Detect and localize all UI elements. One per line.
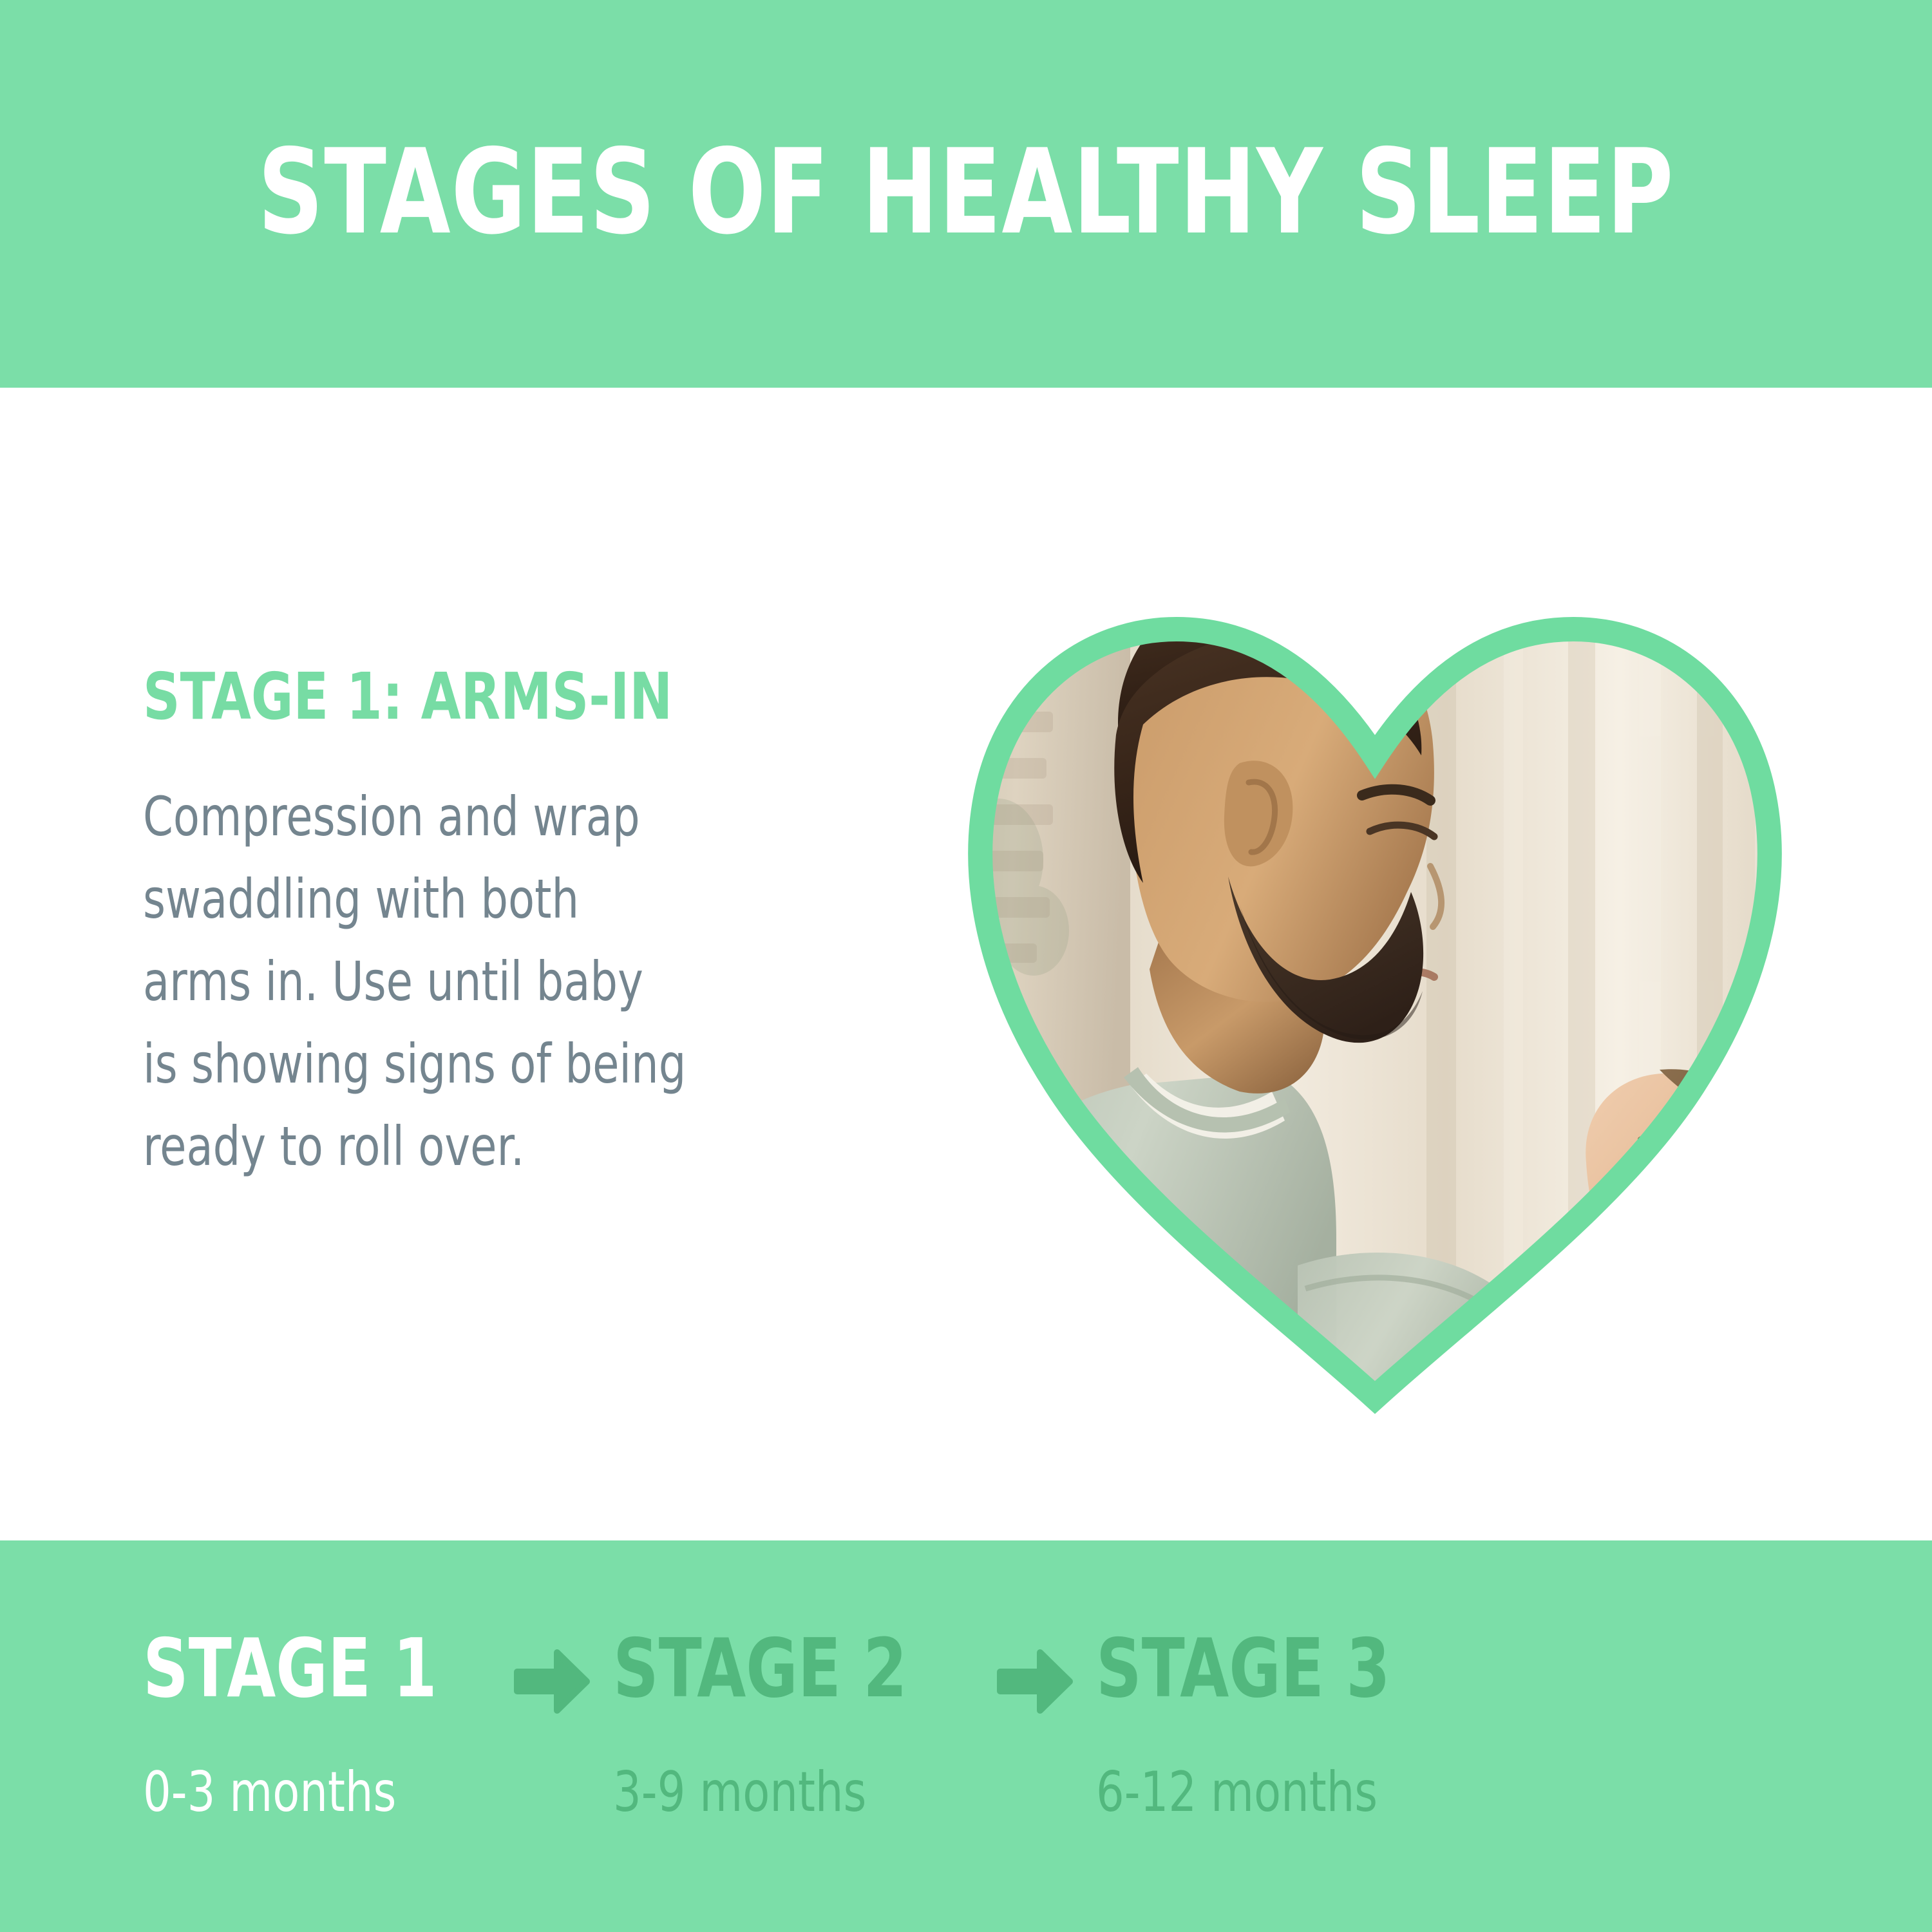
page-title: STAGES OF HEALTHY SLEEP: [258, 133, 1674, 251]
footer-band: STAGE 1 0-3 months STAGE 2 3-9 months: [0, 1540, 1932, 1932]
stage-step-3-label: STAGE 3: [1096, 1628, 1390, 1709]
stage-text-column: STAGE 1: ARMS-IN Compression and wrap sw…: [143, 665, 903, 1188]
infographic-page: STAGES OF HEALTHY SLEEP STAGE 1: ARMS-IN…: [0, 0, 1932, 1932]
arrow-right-icon: [513, 1646, 591, 1717]
stage-step-2-months: 3-9 months: [613, 1765, 866, 1820]
swaddle-heart-logo: [1618, 1302, 1698, 1367]
stage-step-2-label: STAGE 2: [613, 1628, 907, 1709]
main-content: STAGE 1: ARMS-IN Compression and wrap sw…: [0, 388, 1932, 1540]
stage-heading: STAGE 1: ARMS-IN: [143, 665, 751, 729]
stage-progression: STAGE 1 0-3 months STAGE 2 3-9 months: [143, 1628, 1817, 1820]
stage-step-1-months: 0-3 months: [143, 1765, 396, 1820]
arrow-1-2: [491, 1628, 613, 1717]
stage-step-1[interactable]: STAGE 1 0-3 months: [143, 1628, 491, 1820]
stage-step-3-months: 6-12 months: [1096, 1765, 1378, 1820]
stage-description: Compression and wrap swaddling with both…: [143, 775, 689, 1188]
stage-step-2[interactable]: STAGE 2 3-9 months: [613, 1628, 974, 1820]
heart-photo: [937, 518, 1813, 1420]
arrow-2-3: [974, 1628, 1096, 1717]
header-band: STAGES OF HEALTHY SLEEP: [0, 0, 1932, 388]
arrow-right-icon: [996, 1646, 1074, 1717]
stage-step-1-label: STAGE 1: [143, 1628, 437, 1709]
stage-step-3[interactable]: STAGE 3 6-12 months: [1096, 1628, 1457, 1820]
